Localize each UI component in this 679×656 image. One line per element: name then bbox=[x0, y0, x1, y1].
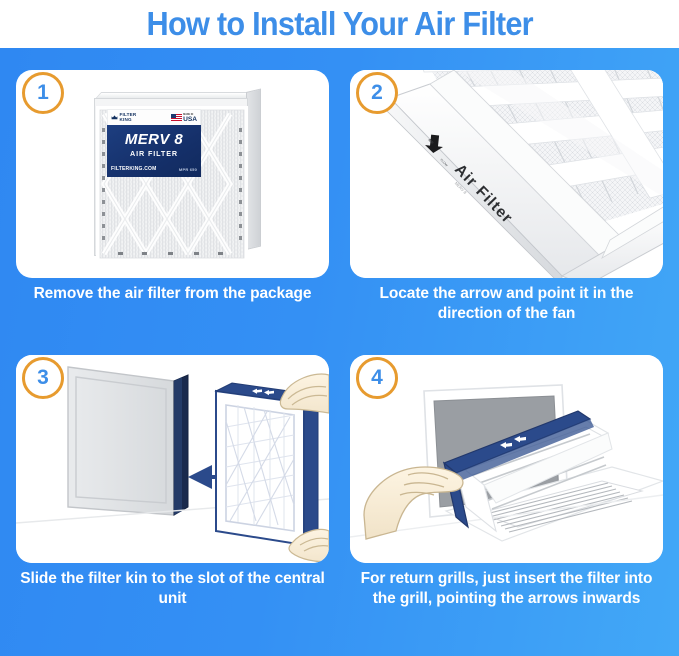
mpr-rating: MPR 650 bbox=[179, 167, 197, 172]
filter-front-face: FILTER KING bbox=[94, 98, 248, 256]
filter-side-face bbox=[246, 89, 261, 250]
label-subtitle: AIR FILTER bbox=[107, 149, 201, 158]
title-band: How to Install Your Air Filter bbox=[0, 0, 679, 48]
step-number-badge-3: 3 bbox=[22, 357, 64, 399]
product-label-header: FILTER KING bbox=[107, 109, 201, 126]
step-4-image-card: 4 bbox=[350, 355, 663, 563]
slide-filter-svg bbox=[16, 355, 329, 563]
made-in-usa-mark: MADE IN USA bbox=[171, 113, 197, 123]
slide-filter-illustration bbox=[16, 355, 329, 563]
filter-king-logo: FILTER KING bbox=[111, 113, 136, 123]
step-1-image-card: FILTER KING bbox=[16, 70, 329, 278]
brand-line-2: KING bbox=[120, 118, 137, 123]
step-2-image-card: AIR FLOW Air Filter MERV 8 bbox=[350, 70, 663, 278]
infographic-root: How to Install Your Air Filter bbox=[0, 0, 679, 656]
step-caption-2: Locate the arrow and point it in the dir… bbox=[350, 284, 663, 324]
brand-website: FILTERKING.COM bbox=[111, 166, 156, 172]
step-1-artwork: FILTER KING bbox=[16, 70, 329, 278]
step-caption-3: Slide the filter kin to the slot of the … bbox=[16, 569, 329, 609]
step-number-badge-4: 4 bbox=[356, 357, 398, 399]
step-2-artwork: AIR FLOW Air Filter MERV 8 bbox=[350, 70, 663, 278]
step-number-badge-2: 2 bbox=[356, 72, 398, 114]
country-text: USA bbox=[183, 116, 197, 123]
step-card-3: 3 Slide the filter kin to the slot of th… bbox=[16, 355, 329, 625]
return-grill-svg bbox=[350, 355, 663, 563]
page-title: How to Install Your Air Filter bbox=[146, 5, 532, 43]
air-filter-product-photo: FILTER KING bbox=[94, 92, 262, 262]
step-number-badge-1: 1 bbox=[22, 72, 64, 114]
crown-icon bbox=[111, 114, 118, 121]
filter-corner-closeup: AIR FLOW Air Filter MERV 8 bbox=[350, 70, 663, 278]
step-caption-1: Remove the air filter from the package bbox=[16, 284, 329, 304]
usa-flag-icon bbox=[171, 114, 182, 121]
product-label-body: MERV 8 AIR FILTER FILTERKING.COM MPR 650 bbox=[107, 125, 201, 177]
filter-corner-svg: AIR FLOW Air Filter MERV 8 bbox=[350, 70, 663, 278]
step-card-2: AIR FLOW Air Filter MERV 8 bbox=[350, 70, 663, 358]
steps-grid: FILTER KING bbox=[0, 48, 679, 656]
step-4-artwork bbox=[350, 355, 663, 563]
steps-board: FILTER KING bbox=[0, 48, 679, 656]
step-card-1: FILTER KING bbox=[16, 70, 329, 340]
step-caption-4: For return grills, just insert the filte… bbox=[350, 569, 663, 609]
return-grill-illustration bbox=[350, 355, 663, 563]
step-card-4: 4 For return grills, just insert the fil… bbox=[350, 355, 663, 643]
step-3-image-card: 3 bbox=[16, 355, 329, 563]
brand-wordmark: FILTER KING bbox=[120, 113, 137, 123]
product-label: FILTER KING bbox=[107, 109, 201, 177]
step-3-artwork bbox=[16, 355, 329, 563]
usa-text-group: MADE IN USA bbox=[183, 113, 197, 123]
product-label-footer: FILTERKING.COM MPR 650 bbox=[111, 166, 197, 172]
merv-rating: MERV 8 bbox=[107, 131, 201, 148]
